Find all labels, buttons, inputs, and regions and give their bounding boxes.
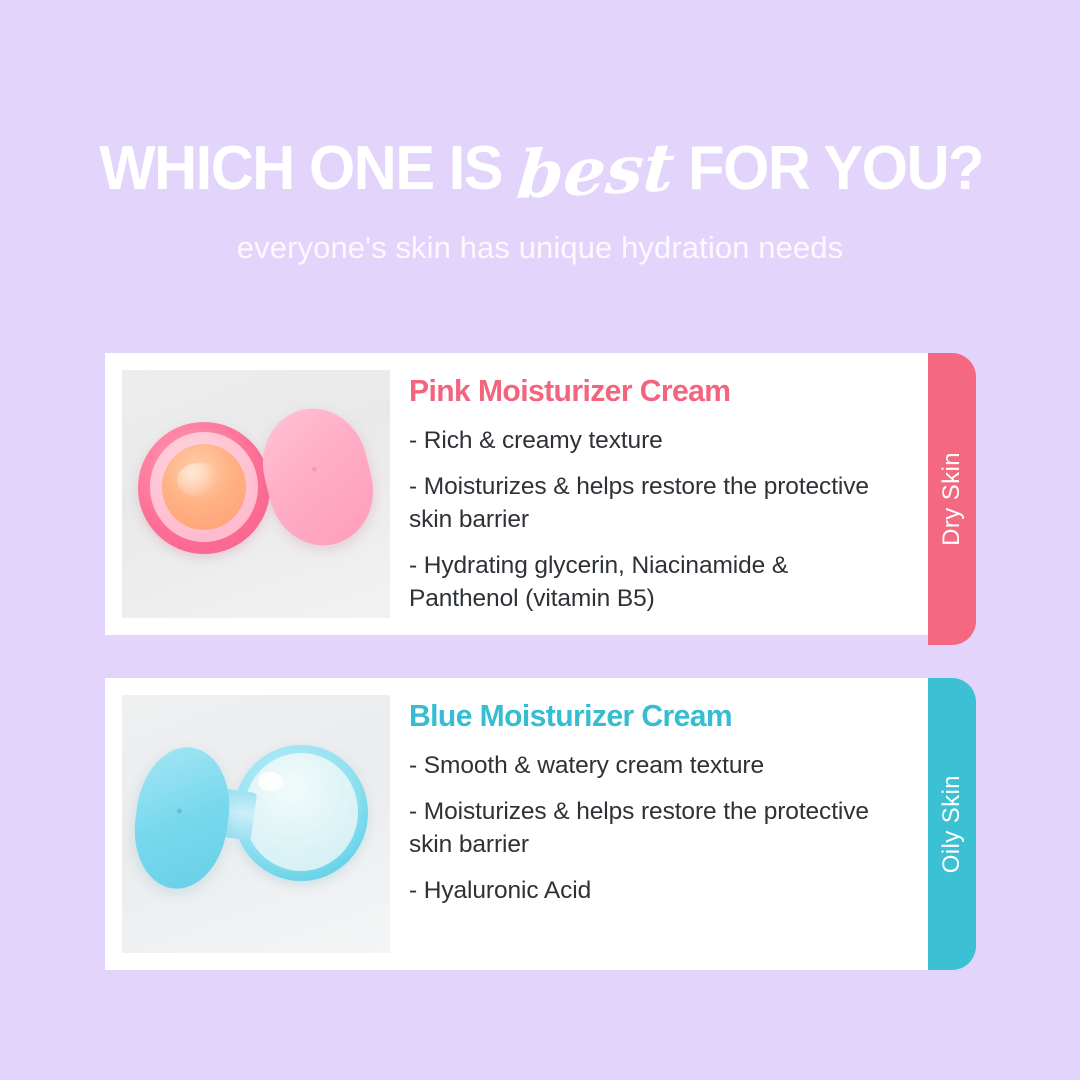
product-card-blue[interactable]: Blue Moisturizer Cream - Smooth & watery… (105, 678, 930, 970)
jar-lid-icon (251, 397, 385, 556)
headline-part-2: FOR YOU? (688, 138, 983, 200)
product-feature: - Smooth & watery cream texture (409, 750, 900, 783)
product-feature: - Moisturizes & helps restore the protec… (409, 796, 900, 861)
skin-type-tab-label: Oily Skin (938, 775, 966, 873)
jar-cream-icon (244, 753, 358, 871)
page-header: WHICH ONE IS best FOR YOU? everyone's sk… (0, 132, 1080, 266)
product-card-blue-wrapper: Blue Moisturizer Cream - Smooth & watery… (105, 678, 930, 970)
product-card-pink-wrapper: Pink Moisturizer Cream - Rich & creamy t… (105, 353, 930, 635)
product-details-blue: Blue Moisturizer Cream - Smooth & watery… (390, 678, 930, 970)
product-title-blue: Blue Moisturizer Cream (409, 700, 885, 733)
product-feature: - Hyaluronic Acid (409, 875, 900, 908)
product-title-pink: Pink Moisturizer Cream (409, 375, 885, 408)
product-details-pink: Pink Moisturizer Cream - Rich & creamy t… (390, 353, 930, 635)
product-feature: - Moisturizes & helps restore the protec… (409, 471, 900, 536)
skin-type-tab-oily[interactable]: Oily Skin (928, 678, 976, 970)
page-title: WHICH ONE IS best FOR YOU? (0, 132, 1080, 206)
headline-script-word: best (507, 134, 686, 209)
product-card-pink[interactable]: Pink Moisturizer Cream - Rich & creamy t… (105, 353, 930, 635)
jar-cream-icon (162, 444, 246, 530)
product-image-blue (122, 695, 390, 953)
skin-type-tab-label: Dry Skin (938, 452, 966, 546)
product-feature: - Hydrating glycerin, Niacinamide & Pant… (409, 550, 900, 615)
product-image-pink (122, 370, 390, 618)
product-feature: - Rich & creamy texture (409, 425, 900, 458)
page-subtitle: everyone's skin has unique hydration nee… (0, 230, 1080, 266)
skin-type-tab-dry[interactable]: Dry Skin (928, 353, 976, 645)
jar-lid-icon (127, 741, 238, 894)
headline-part-1: WHICH ONE IS (99, 138, 502, 200)
